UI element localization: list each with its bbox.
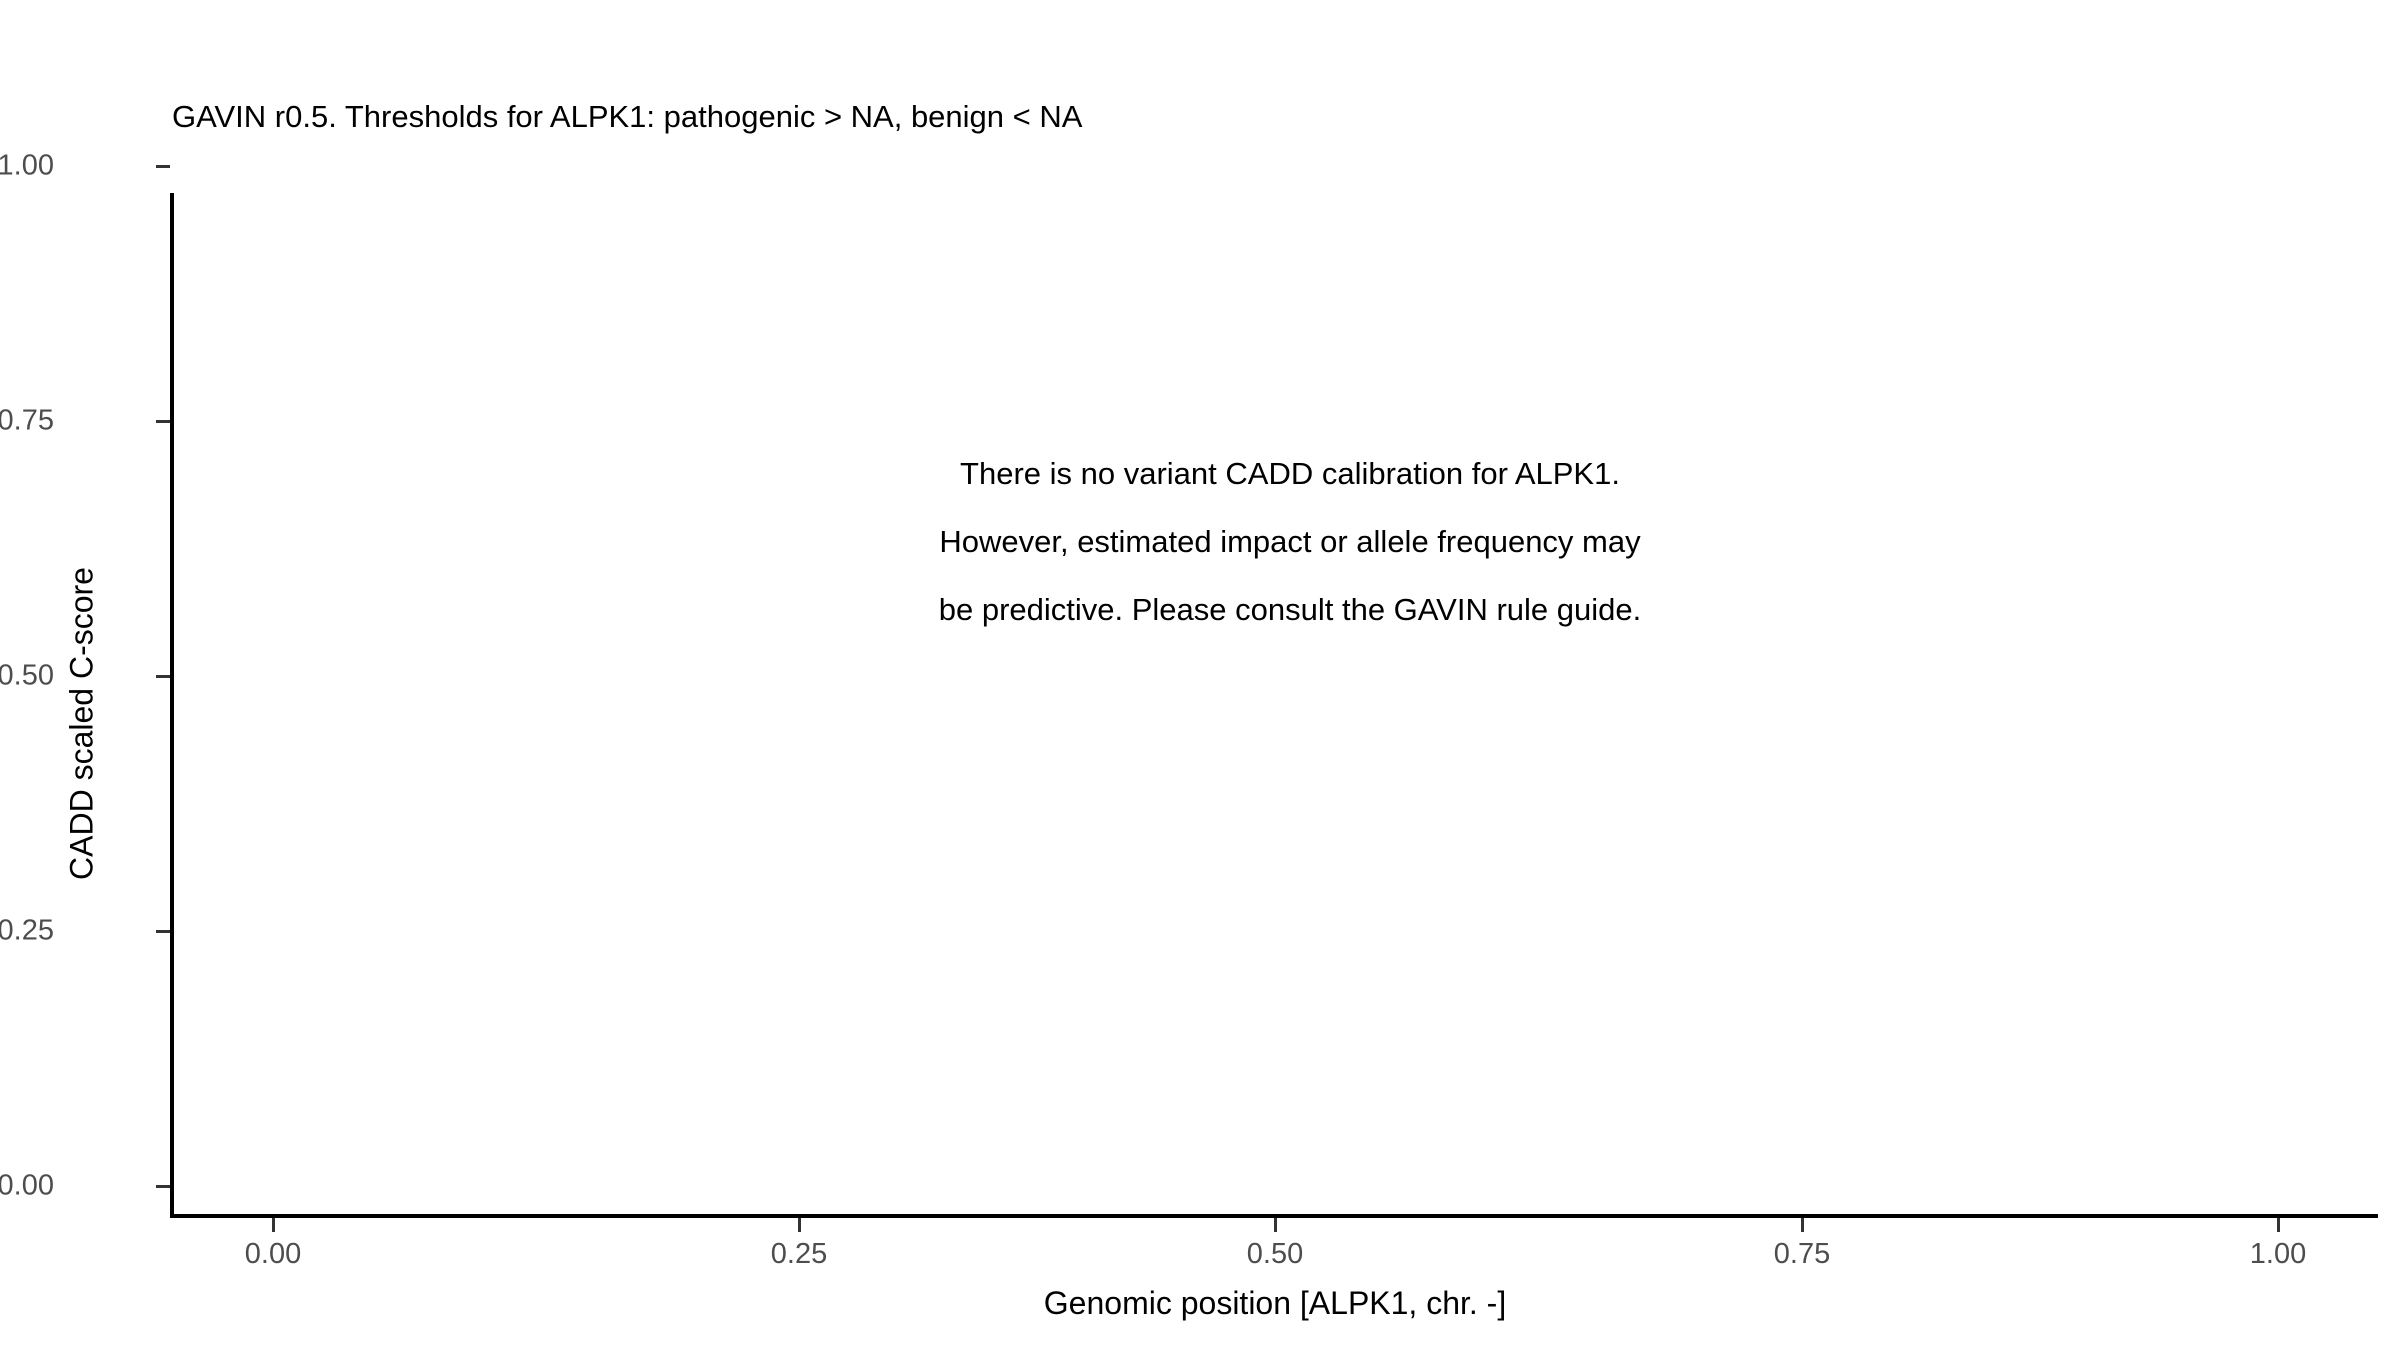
y-tick-mark-4	[156, 165, 170, 168]
annotation-line-1: There is no variant CADD calibration for…	[690, 440, 1890, 508]
x-tick-label-2: 0.50	[1247, 1238, 1303, 1271]
annotation-line-3: be predictive. Please consult the GAVIN …	[690, 576, 1890, 644]
y-tick-label-2: 0.50	[0, 660, 54, 693]
y-tick-mark-2	[156, 675, 170, 678]
x-tick-mark-2	[1274, 1218, 1277, 1232]
y-tick-label-3: 0.75	[0, 405, 54, 438]
annotation-line-2: However, estimated impact or allele freq…	[690, 508, 1890, 576]
y-axis-line	[170, 193, 174, 1218]
y-tick-mark-1	[156, 930, 170, 933]
no-calibration-annotation: There is no variant CADD calibration for…	[690, 440, 1890, 644]
x-tick-mark-4	[2277, 1218, 2280, 1232]
x-tick-mark-1	[798, 1218, 801, 1232]
y-tick-label-1: 0.25	[0, 915, 54, 948]
plot-title-line-1: GAVIN r0.5. Thresholds for ALPK1: pathog…	[172, 96, 2372, 137]
x-axis-title: Genomic position [ALPK1, chr. -]	[172, 1285, 2378, 1322]
x-tick-label-0: 0.00	[245, 1238, 301, 1271]
x-tick-mark-0	[272, 1218, 275, 1232]
x-tick-label-3: 0.75	[1774, 1238, 1830, 1271]
x-tick-label-1: 0.25	[771, 1238, 827, 1271]
y-tick-mark-3	[156, 420, 170, 423]
y-tick-mark-0	[156, 1185, 170, 1188]
y-axis-title: CADD scaled C-score	[64, 324, 101, 1124]
x-tick-label-4: 1.00	[2250, 1238, 2306, 1271]
x-tick-mark-3	[1801, 1218, 1804, 1232]
y-tick-label-4: 1.00	[0, 150, 54, 183]
plot-panel	[172, 196, 2378, 1215]
y-tick-label-0: 0.00	[0, 1170, 54, 1203]
